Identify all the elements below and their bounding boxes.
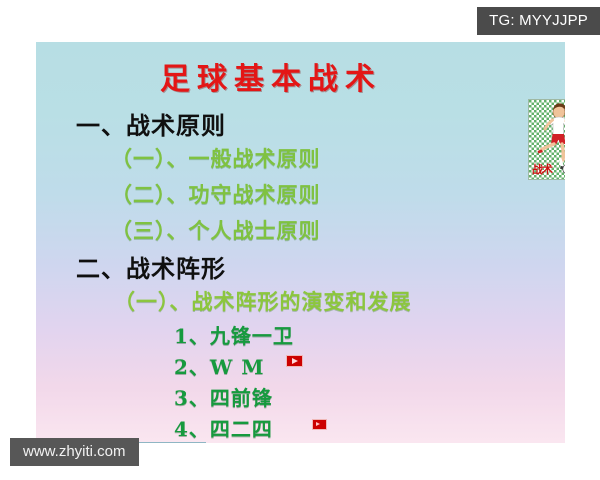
section-heading-1: 一、战术原则: [76, 106, 226, 141]
section-heading-2: 二、战术阵形: [76, 249, 226, 284]
soccer-player-clipart: 战术: [528, 99, 565, 180]
formation-item-1: 1、九锋一卫: [174, 320, 294, 349]
formation-item-3: 3、四前锋: [174, 382, 273, 411]
page-title: 足球基本战术: [36, 54, 506, 98]
embedded-media-icon-424[interactable]: [312, 419, 327, 430]
clipart-caption: 战术: [532, 161, 552, 177]
formation-item-2: 2、W M: [174, 351, 264, 380]
telegram-watermark-badge: TG: MYYJJPP: [477, 7, 600, 35]
embedded-media-icon-wm[interactable]: [286, 355, 303, 367]
formation-item-4: 4、四二四: [174, 413, 273, 442]
site-watermark: www.zhyiti.com: [10, 438, 139, 466]
presentation-slide: 足球基本战术: [36, 42, 565, 443]
section-2-item-1: （一）、战术阵形的演变和发展: [114, 286, 412, 316]
section-1-item-2: （二）、功守战术原则: [111, 179, 321, 209]
screenshot-root: 足球基本战术: [0, 0, 600, 480]
section-1-item-3: （三）、个人战士原则: [111, 215, 321, 245]
section-1-item-1: （一）、一般战术原则: [111, 143, 321, 173]
